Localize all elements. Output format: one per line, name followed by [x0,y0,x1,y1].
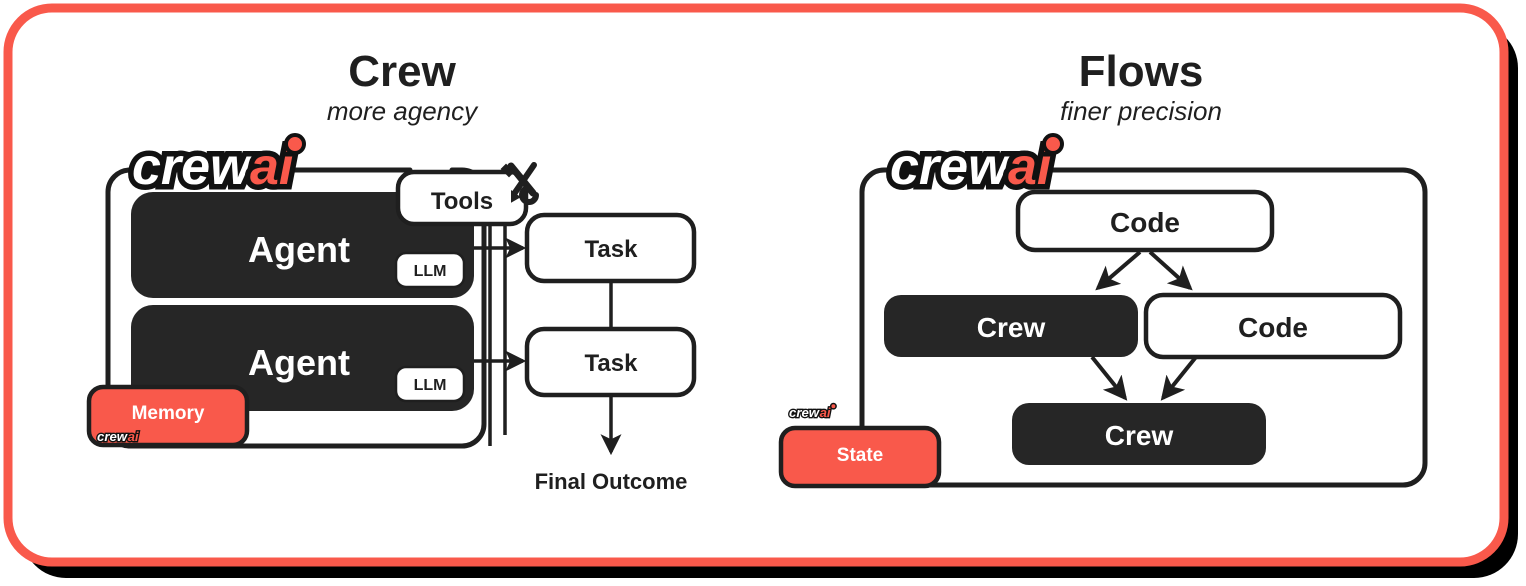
node-task-2[interactable]: Task [527,329,694,395]
crewai-logo-crew-white: crew [132,138,254,196]
flows-title: Flows [1079,47,1204,96]
final-outcome-label: Final Outcome [535,469,688,494]
crewai-logo-state-white: crew [789,405,820,420]
node-agent-2-llm-label: LLM [414,377,447,394]
node-code-top-label: Code [1110,207,1180,238]
node-agent-1-label: Agent [248,229,350,270]
node-crew-left-label: Crew [977,312,1046,343]
node-task-1-label: Task [585,236,639,263]
node-state[interactable]: State [781,428,939,486]
diagram-canvas: Crew more agency Agent LLM Agent LLM [0,0,1526,586]
crewai-logo-flows-icon: crew ai [890,135,1062,196]
node-task-2-label: Task [585,350,639,377]
node-crew-bottom-label: Crew [1105,420,1174,451]
node-state-label: State [837,445,883,466]
node-task-1[interactable]: Task [527,215,694,281]
crewai-logo-flows-white: crew [890,138,1012,196]
node-code-right-label: Code [1238,312,1308,343]
node-tools[interactable]: Tools [398,172,526,224]
crewai-logo-state-icon: crew ai [789,404,836,421]
node-memory-label: Memory [132,403,205,424]
crewai-logo-state-red: ai [820,405,831,420]
crew-subtitle: more agency [327,96,479,126]
node-agent-1-llm-label: LLM [414,263,447,280]
node-code-right[interactable]: Code [1146,295,1400,357]
flows-subtitle: finer precision [1060,96,1222,126]
crewai-logo-crew-icon: crew ai [132,135,304,196]
node-crew-bottom[interactable]: Crew [1012,403,1266,465]
node-agent-2-label: Agent [248,342,350,383]
crewai-logo-memory-red: ai [128,429,139,444]
node-agent-1-llm[interactable]: LLM [396,253,464,287]
node-code-top[interactable]: Code [1018,192,1272,250]
node-tools-label: Tools [431,188,493,215]
crewai-logo-memory-icon: crew ai [97,429,139,444]
node-agent-2-llm[interactable]: LLM [396,367,464,401]
node-crew-left[interactable]: Crew [884,295,1138,357]
crew-title: Crew [348,47,456,96]
crewai-logo-memory-white: crew [97,429,128,444]
